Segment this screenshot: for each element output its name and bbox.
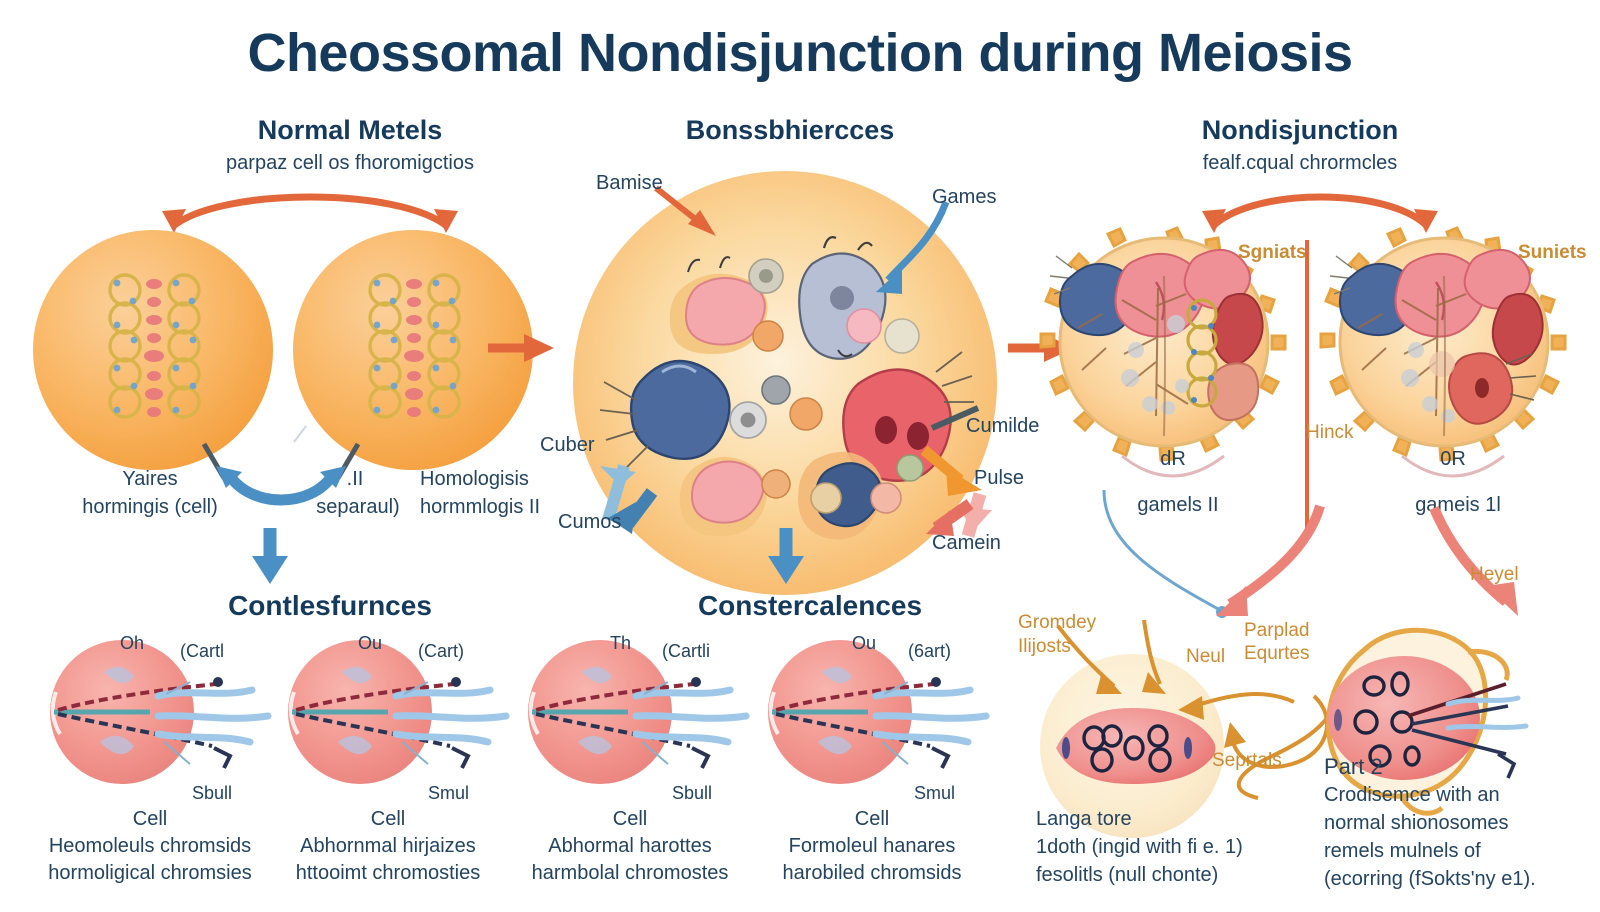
egg-right-caption-line1: Crodisemce with an: [1324, 782, 1600, 810]
sperm-2-caption-line2: Abhornmal hirjaizes: [248, 833, 528, 860]
down-arrow-left: [248, 528, 292, 586]
cell-a-bracket-label: dR: [1118, 446, 1228, 472]
cell-b-bracket-label: 0R: [1398, 446, 1508, 472]
egg-right-caption-line3: remels mulnels of: [1324, 838, 1600, 866]
part2-label: Part 2: [1324, 752, 1383, 781]
egg-right-caption-line2: normal shionosomes: [1324, 810, 1600, 838]
section-heading-consequences-left: Contlesfurnces: [100, 590, 560, 622]
sperm-1-top-left-label: Oh: [120, 632, 144, 655]
center-label-bamise: Bamise: [596, 170, 663, 196]
salmon-curve-to-egg: [1190, 500, 1330, 630]
sperm-3-top-right-label: (Cartli: [662, 640, 710, 663]
sperm-2-bottom-label: Smul: [428, 782, 469, 805]
center-label-cuber: Cuber: [540, 432, 594, 458]
sperm-1-caption-line1: Cell: [20, 806, 280, 833]
sperm-4-top-right-label: (6art): [908, 640, 951, 663]
divider-label-hinck: Hinck: [1306, 420, 1354, 446]
center-label-camein: Camein: [932, 530, 1001, 556]
sperm-4-caption-line1: Cell: [742, 806, 1002, 833]
panel-subheading-nondisjunction: fealf.cqual chrormcles: [1090, 152, 1510, 175]
sperm-cell-group-2: [278, 630, 548, 790]
sperm-1-bottom-label: Sbull: [192, 782, 232, 805]
left-cell-mid-label-line1: .II: [320, 466, 390, 492]
left-cell-mid-label-line2: separaul): [288, 494, 428, 520]
page-title: Cheossomal Nondisjunction during Meiosis: [0, 22, 1600, 84]
egg-right-caption-line4: (ecorring (fSokts'ny e1).: [1324, 866, 1600, 894]
sperm-2-caption-line1: Cell: [258, 806, 518, 833]
egg-left-caption-line3: fesolitls (null chonte): [1036, 862, 1316, 890]
gromdey-label-line2: Ilijosts: [1018, 634, 1071, 660]
diagram-canvas: Cheossomal Nondisjunction during Meiosis…: [0, 0, 1600, 912]
sperm-2-top-right-label: (Cart): [418, 640, 464, 663]
down-arrow-center: [764, 528, 808, 586]
center-label-cumos: Cumos: [558, 509, 621, 535]
sperm-3-bottom-label: Sbull: [672, 782, 712, 805]
center-label-games: Games: [932, 184, 996, 210]
games-pointer-arrow: [846, 196, 956, 316]
sperm-1-top-right-label: (Cartl: [180, 640, 224, 663]
sperm-cell-3: [518, 630, 788, 790]
sperm-2-caption-line3: httooimt chromosties: [248, 860, 528, 887]
panel-heading-nondisjunction: Nondisjunction: [1090, 115, 1510, 146]
sperm-3-top-left-label: Th: [610, 632, 631, 655]
panel-heading-normal: Normal Metels: [130, 115, 570, 146]
cell-a-corona-label: Sgniats: [1238, 242, 1307, 264]
sperm-cell-1: [40, 630, 310, 790]
sperm-4-caption-line3: harobiled chromsids: [732, 860, 1012, 887]
left-cell-1-label-line1: Yaires: [70, 466, 230, 492]
center-label-pulse: Pulse: [974, 465, 1024, 491]
sperm-cell-2: [278, 630, 548, 790]
sperm-4-top-left-label: Ou: [852, 632, 876, 655]
sperm-4-bottom-label: Smul: [914, 782, 955, 805]
panel-subheading-normal: parpaz cell os fhoromigctios: [130, 152, 570, 175]
seprtals-label: Seprtals: [1212, 748, 1282, 774]
right-panel-divider: [1300, 240, 1314, 540]
label-heyel: Heyel: [1470, 562, 1519, 588]
left-cell-2-label-line1: Homologisis: [420, 466, 529, 492]
panel-heading-center: Bonssbhiercces: [600, 115, 980, 146]
egg-left-caption-line2: 1doth (ingid with fi e. 1): [1036, 834, 1316, 862]
center-label-cumilde: Cumilde: [966, 413, 1039, 439]
left-cell-2-label-line2: hormmlogis II: [420, 494, 540, 520]
sperm-3-caption-line3: harmbolal chromostes: [490, 860, 770, 887]
neul-label: Neul: [1186, 644, 1225, 670]
bamise-pointer-arrow: [654, 186, 734, 246]
sperm-cell-group-1: [40, 630, 310, 790]
orange-arrow-left-to-center: [488, 330, 558, 366]
egg-left-caption-line1: Langa tore: [1036, 806, 1286, 834]
sperm-3-caption-line2: Abhormal harottes: [490, 833, 770, 860]
section-heading-consequences-center: Constercalences: [580, 590, 1040, 622]
sperm-cell-4: [758, 630, 1028, 790]
gromdey-label-line1: Gromdey: [1018, 610, 1096, 636]
sperm-2-top-left-label: Ou: [358, 632, 382, 655]
sperm-cell-group-4: [758, 630, 1028, 790]
sperm-cell-group-3: [518, 630, 788, 790]
sperm-3-caption-line1: Cell: [500, 806, 760, 833]
left-cell-1-label-line2: hormingis (cell): [20, 494, 280, 520]
cell-b-corona-label: Suniets: [1518, 242, 1587, 264]
sperm-4-caption-line2: Formoleul hanares: [732, 833, 1012, 860]
